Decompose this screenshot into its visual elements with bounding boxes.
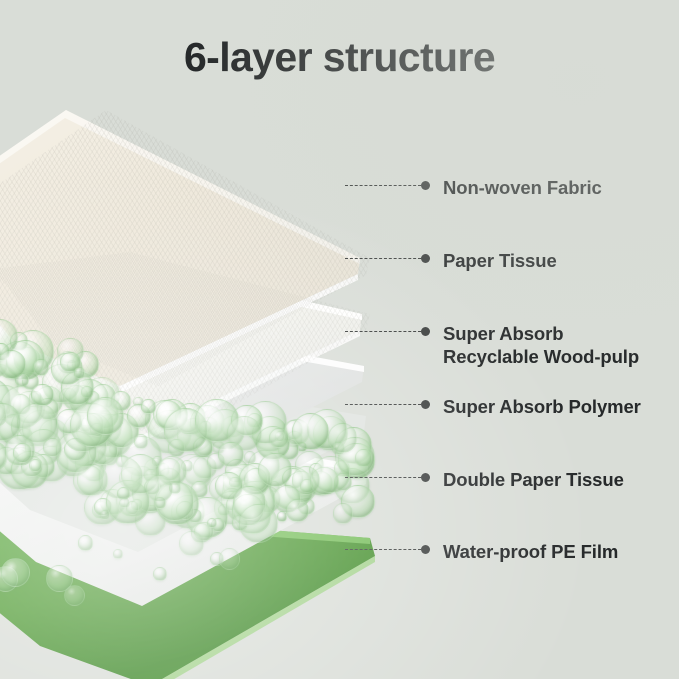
callout-super-absorb-polymer[interactable]: Super Absorb Polymer (345, 396, 641, 419)
callout-label: Super Absorb Polymer (443, 396, 641, 419)
callout-label: Super Absorb Recyclable Wood-pulp (443, 323, 639, 368)
bullet-dot-icon (421, 545, 430, 554)
leader-line-icon (345, 254, 429, 263)
callout-double-paper-tissue[interactable]: Double Paper Tissue (345, 469, 624, 492)
bullet-dot-icon (421, 254, 430, 263)
bullet-dot-icon (421, 181, 430, 190)
bullet-dot-icon (421, 400, 430, 409)
callout-label: Non-woven Fabric (443, 177, 602, 200)
leader-line-icon (345, 181, 429, 190)
callout-wood-pulp[interactable]: Super Absorb Recyclable Wood-pulp (345, 323, 639, 368)
leader-line-icon (345, 400, 429, 409)
callout-label: Double Paper Tissue (443, 469, 624, 492)
bullet-dot-icon (421, 327, 430, 336)
leader-line-icon (345, 327, 429, 336)
callout-paper-tissue[interactable]: Paper Tissue (345, 250, 557, 273)
callout-label: Paper Tissue (443, 250, 557, 273)
bullet-dot-icon (421, 473, 430, 482)
leader-line-icon (345, 473, 429, 482)
callout-waterproof-pe-film[interactable]: Water-proof PE Film (345, 541, 618, 564)
callout-label: Water-proof PE Film (443, 541, 618, 564)
leader-line-icon (345, 545, 429, 554)
callout-non-woven-fabric[interactable]: Non-woven Fabric (345, 177, 602, 200)
illustration-canvas: 6-layer structure Non-woven Fabric Paper… (0, 0, 679, 679)
callout-list: Non-woven Fabric Paper Tissue Super Abso… (0, 0, 679, 679)
